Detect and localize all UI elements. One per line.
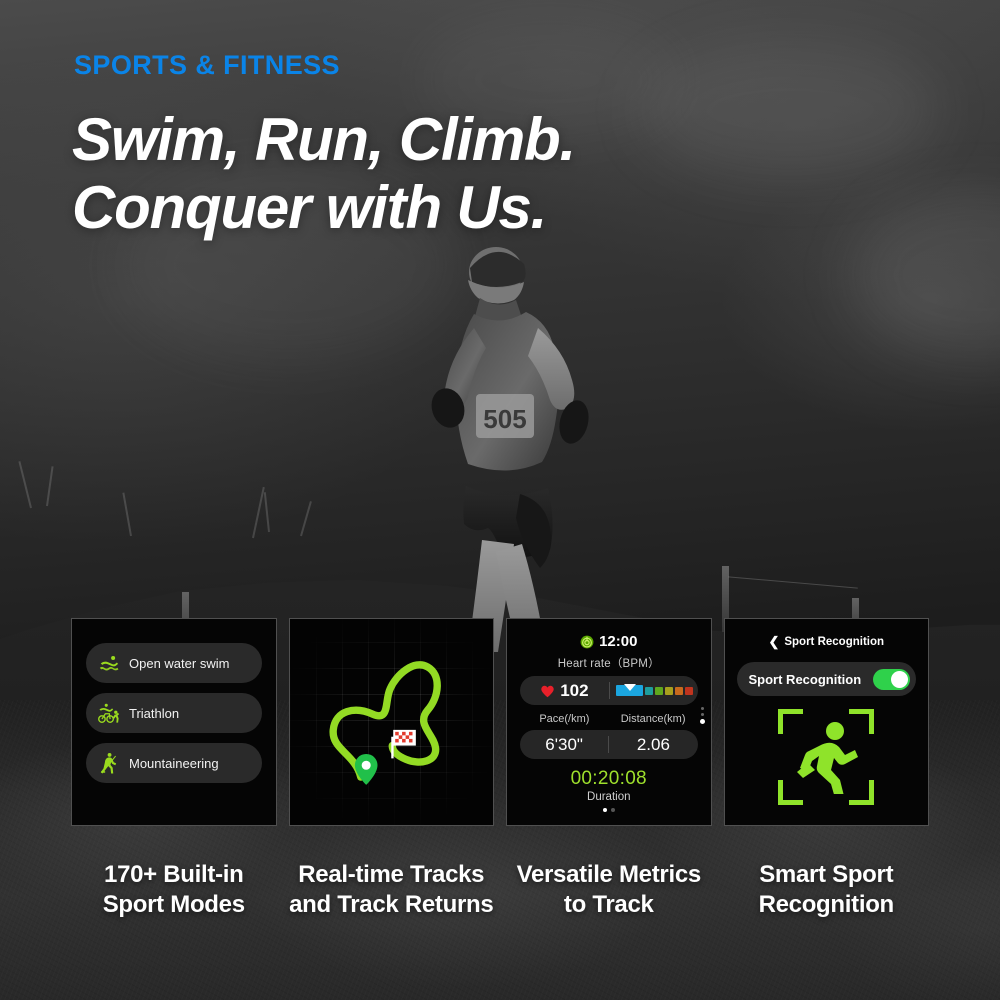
sport-mode-label: Open water swim <box>129 656 229 671</box>
heart-rate-label: Heart rate（BPM） <box>520 655 698 671</box>
card-sport-modes: Open water swim Tr <box>71 618 277 826</box>
pace-distance-row[interactable]: 6'30" 2.06 <box>520 730 698 759</box>
hr-zone-5 <box>675 687 683 695</box>
distance-value: 2.06 <box>609 735 697 755</box>
svg-text:505: 505 <box>483 404 526 434</box>
hr-zone-6 <box>685 687 693 695</box>
caption-sport-modes: 170+ Built-in Sport Modes <box>71 860 277 920</box>
sport-recognition-toggle-row[interactable]: Sport Recognition <box>737 662 917 696</box>
toggle-label: Sport Recognition <box>749 672 862 687</box>
caption-line-2: and Track Returns <box>289 890 495 920</box>
sport-recognition-screen: ❮ Sport Recognition Sport Recognition <box>725 619 929 805</box>
triathlon-icon <box>98 702 120 724</box>
caption-line-2: Sport Modes <box>71 890 277 920</box>
promo-banner: 505 SPORTS & FITNESS Swim, Run, Climb. C… <box>0 0 1000 1000</box>
caption-line-2: to Track <box>506 890 712 920</box>
heart-rate-row[interactable]: 102 <box>520 676 698 705</box>
sport-mode-item-triathlon[interactable]: Triathlon <box>86 693 262 733</box>
scroll-dot-active <box>700 719 705 724</box>
page-dot-active <box>603 808 607 812</box>
running-person-icon <box>791 720 861 794</box>
caption-line-1: Smart Sport <box>724 860 930 890</box>
mountaineering-icon <box>98 752 120 774</box>
headline-line-2: Conquer with Us. <box>72 174 812 242</box>
caption-line-1: Versatile Metrics <box>506 860 712 890</box>
page-title: Swim, Run, Climb. Conquer with Us. <box>72 106 812 242</box>
feature-card-row: Open water swim Tr <box>71 618 929 826</box>
switch-knob <box>891 671 908 688</box>
heart-rate-value: 102 <box>560 682 588 699</box>
clock-value: 12:00 <box>599 633 637 650</box>
hr-zone-marker-caret <box>624 684 636 691</box>
caption-line-2: Recognition <box>724 890 930 920</box>
hr-zone-4 <box>665 687 673 695</box>
hr-zone-3 <box>655 687 663 695</box>
scroll-indicator[interactable] <box>700 707 705 724</box>
sport-mode-item-open-water-swim[interactable]: Open water swim <box>86 643 262 683</box>
page-indicator[interactable] <box>520 808 698 812</box>
metrics-watchface: 12:00 Heart rate（BPM） 102 <box>507 619 711 812</box>
gps-signal-icon <box>580 635 594 649</box>
sport-mode-label: Triathlon <box>129 706 179 721</box>
sport-recognition-switch[interactable] <box>873 669 910 690</box>
caption-smart-sport-recognition: Smart Sport Recognition <box>724 860 930 920</box>
caption-line-1: 170+ Built-in <box>71 860 277 890</box>
detection-frame <box>778 709 874 805</box>
sport-mode-label: Mountaineering <box>129 756 219 771</box>
caption-versatile-metrics: Versatile Metrics to Track <box>506 860 712 920</box>
scroll-dot <box>701 713 704 716</box>
heart-icon <box>540 684 555 698</box>
caption-line-1: Real-time Tracks <box>289 860 495 890</box>
back-label: Sport Recognition <box>784 636 884 648</box>
card-realtime-track <box>289 618 495 826</box>
pace-distance-labels: Pace(/km) Distance(km) <box>520 713 698 725</box>
runner-photo-subject: 505 <box>370 232 670 652</box>
open-water-swim-icon <box>98 652 120 674</box>
sport-mode-item-mountaineering[interactable]: Mountaineering <box>86 743 262 783</box>
map-route <box>290 619 494 825</box>
pace-label: Pace(/km) <box>520 713 609 725</box>
card-metrics: 12:00 Heart rate（BPM） 102 <box>506 618 712 826</box>
hr-zone-current <box>616 685 643 696</box>
caption-row: 170+ Built-in Sport Modes Real-time Trac… <box>71 860 929 920</box>
pace-distance-values: 6'30" 2.06 <box>520 736 698 753</box>
eyebrow-label: SPORTS & FITNESS <box>74 50 340 81</box>
sport-mode-list: Open water swim Tr <box>72 619 276 783</box>
heart-rate-value-group: 102 <box>520 682 610 699</box>
map-pin-icon <box>354 754 377 785</box>
card-sport-recognition: ❮ Sport Recognition Sport Recognition <box>724 618 930 826</box>
hr-zone-2 <box>645 687 653 695</box>
pace-value: 6'30" <box>520 735 608 755</box>
duration-value: 00:20:08 <box>520 768 698 790</box>
heart-rate-zone-bar <box>610 685 698 696</box>
duration-label: Duration <box>520 791 698 803</box>
chevron-left-icon: ❮ <box>768 635 779 648</box>
track-map[interactable] <box>290 619 494 825</box>
scroll-dot <box>701 707 704 710</box>
headline-line-1: Swim, Run, Climb. <box>72 106 575 173</box>
back-navigation[interactable]: ❮ Sport Recognition <box>737 635 917 648</box>
page-dot <box>611 808 615 812</box>
distance-label: Distance(km) <box>609 713 698 725</box>
caption-realtime-tracks: Real-time Tracks and Track Returns <box>289 860 495 920</box>
clock-row: 12:00 <box>520 633 698 650</box>
